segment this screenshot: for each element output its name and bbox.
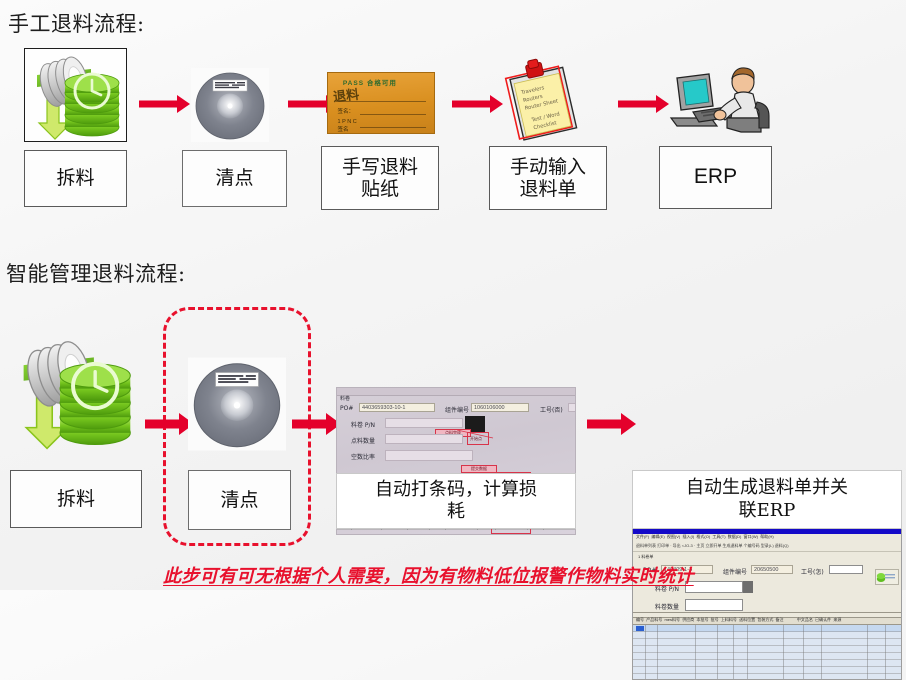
step-box-smart-4[interactable]: 自动生成退料单并关 联ERP: [632, 470, 902, 529]
step-box-manual-2[interactable]: 清点: [182, 150, 287, 207]
database-clock-glyph-2: [8, 330, 142, 455]
flow-arrow-manual-1: [139, 94, 191, 114]
barcode-screen-title: 料卷: [340, 395, 350, 402]
barcode-field-3-label: 空数比率: [351, 452, 375, 461]
step-label-line2: 耗: [447, 501, 465, 524]
step-box-manual-1[interactable]: 拆料: [24, 150, 127, 207]
section-heading-manual: 手工退料流程:: [8, 8, 145, 38]
sticker-field-1: 签名：: [338, 107, 355, 115]
barcode-field-3-input[interactable]: [385, 450, 473, 461]
step-label-line2: 贴纸: [361, 178, 399, 200]
sticker-field-2-line2: 签名: [338, 125, 349, 133]
flow-arrow-smart-1: [145, 412, 193, 436]
sticker-scribble: 退料: [332, 84, 360, 106]
database-clock-icon-2: [8, 330, 142, 455]
erp-part-value: 20650500: [754, 567, 778, 573]
wafer-disc-icon: [191, 68, 269, 142]
section-heading-smart: 智能管理退料流程:: [6, 258, 186, 288]
step-box-manual-4[interactable]: 手动输入 退料单: [489, 146, 607, 210]
annotation-pointer-icon: [457, 426, 497, 440]
barcode-po-value: 4403659303-10-1: [362, 405, 405, 411]
step-label: 清点: [215, 167, 253, 189]
flow-arrow-manual-3: [452, 94, 504, 114]
database-clock-glyph: [25, 49, 127, 142]
erp-field-2-label: 料卷数量: [655, 602, 679, 611]
erp-screen-shot: 文件(F) 编辑(E) 视图(V) 插入(I) 格式(O) 工具(T) 数据(D…: [632, 528, 902, 680]
flow-arrow-smart-2: [292, 412, 340, 436]
barcode-po-label: PO#: [340, 405, 353, 412]
step-box-smart-2[interactable]: 清点: [188, 470, 291, 530]
step-label-line1: 自动打条码，计算损: [375, 479, 537, 502]
step-label-line2: 退料单: [519, 178, 576, 200]
step-box-smart-1[interactable]: 拆料: [10, 470, 142, 528]
optional-step-note: 此步可有可无根据个人需要，因为有物料低位报警作物料实时统计: [163, 562, 694, 588]
erp-part-label: 组件编号: [723, 567, 747, 576]
step-label: 清点: [220, 489, 258, 511]
erp-grid-rows[interactable]: [633, 625, 902, 680]
erp-menu-items[interactable]: 文件(F) 编辑(E) 视图(V) 插入(I) 格式(O) 工具(T) 数据(D…: [636, 535, 774, 539]
erp-toolbar[interactable]: 退料单列表 打印单 · 导出 <JO-3 · 主页 立即开单 生成退料单 个编号…: [636, 544, 789, 548]
barcode-part-label: 组件编号: [445, 405, 469, 414]
person-at-computer-glyph: [665, 62, 775, 146]
database-clock-icon: [24, 48, 127, 142]
step-label: ERP: [694, 165, 737, 190]
clipboard-glyph: Travelers Routers Router Sheet Test / Wo…: [498, 56, 594, 142]
erp-tab-label[interactable]: 1 料卷单: [638, 555, 653, 559]
flow-arrow-manual-4: [618, 94, 670, 114]
barcode-field-1-label: 料卷 P/N: [351, 420, 375, 429]
step-label-line2: 联ERP: [739, 500, 796, 523]
pass-sticker-icon: PASS 合格可用 退料 签名： 1 P N C 签名: [327, 72, 435, 134]
clipboard-icon: Travelers Routers Router Sheet Test / Wo…: [498, 56, 594, 142]
barcode-field-2-label: 点料数量: [351, 436, 375, 445]
step-label-line1: 自动生成退料单并关: [686, 477, 848, 500]
step-label: 拆料: [56, 167, 94, 189]
step-box-manual-3[interactable]: 手写退料 贴纸: [321, 146, 439, 210]
wafer-disc-icon-2: [188, 355, 286, 453]
wafer-disc-glyph: [191, 68, 269, 142]
barcode-field-1-input[interactable]: [385, 418, 463, 428]
wafer-disc-glyph-2: [188, 355, 286, 453]
person-at-computer-icon: [665, 62, 775, 146]
barcode-work-label: 工号(否): [540, 405, 563, 414]
barcode-part-value: 1060106000: [474, 405, 505, 411]
flow-arrow-smart-3: [587, 412, 635, 436]
step-label-line1: 手动输入: [510, 156, 586, 178]
step-box-manual-5[interactable]: ERP: [659, 146, 772, 209]
erp-save-icon[interactable]: [875, 569, 899, 585]
barcode-field-2-input[interactable]: [385, 434, 463, 444]
erp-field-2-input[interactable]: [685, 599, 743, 611]
erp-work-label: 工号(怎): [801, 567, 824, 576]
green-disk-icon: [876, 571, 896, 583]
erp-grid-headers: 编号 产品料号 mes料号 供应商 本批号 批号 上料料号 送料位置 包装方式 …: [636, 618, 841, 622]
step-label: 拆料: [57, 488, 95, 510]
step-label-line1: 手写退料: [342, 156, 418, 178]
step-box-smart-3[interactable]: 自动打条码，计算损 耗: [336, 473, 576, 529]
